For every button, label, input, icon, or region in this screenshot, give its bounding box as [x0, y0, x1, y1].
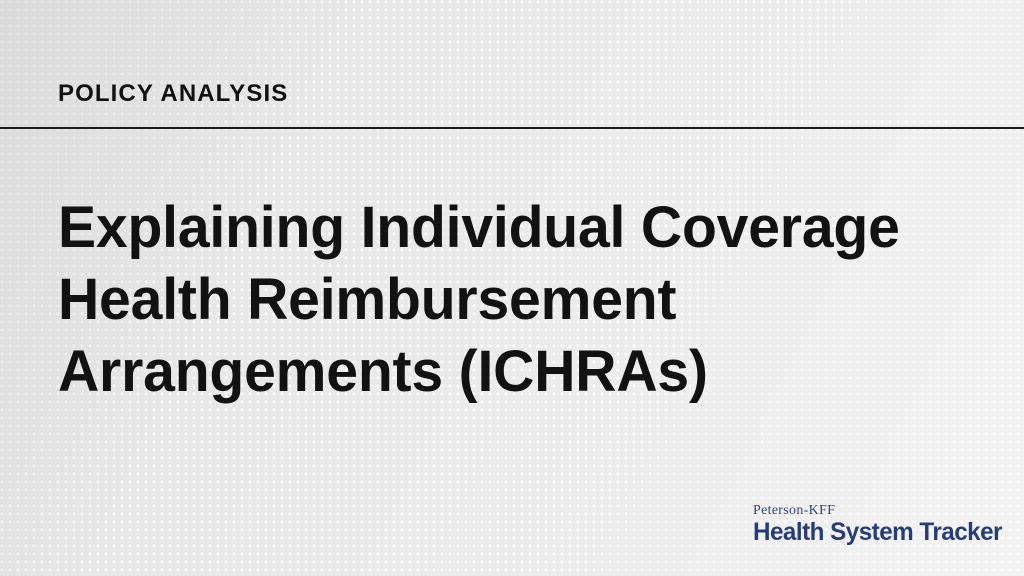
brand-logo: Peterson-KFF Health System Tracker — [753, 503, 975, 546]
title-slide: POLICY ANALYSIS Explaining Individual Co… — [0, 0, 1024, 576]
slide-content: POLICY ANALYSIS Explaining Individual Co… — [0, 0, 1024, 576]
header-divider-rule — [0, 127, 1024, 129]
brand-logo-name: Health System Tracker — [753, 519, 968, 546]
category-kicker: POLICY ANALYSIS — [58, 79, 288, 109]
page-title-line-3: Arrangements (ICHRAs) — [58, 336, 945, 408]
brand-logo-organization: Peterson-KFF — [753, 503, 975, 518]
page-title-line-1: Explaining Individual Coverage — [58, 192, 945, 264]
page-title: Explaining Individual Coverage Health Re… — [58, 192, 958, 408]
page-title-line-2: Health Reimbursement — [58, 264, 945, 336]
